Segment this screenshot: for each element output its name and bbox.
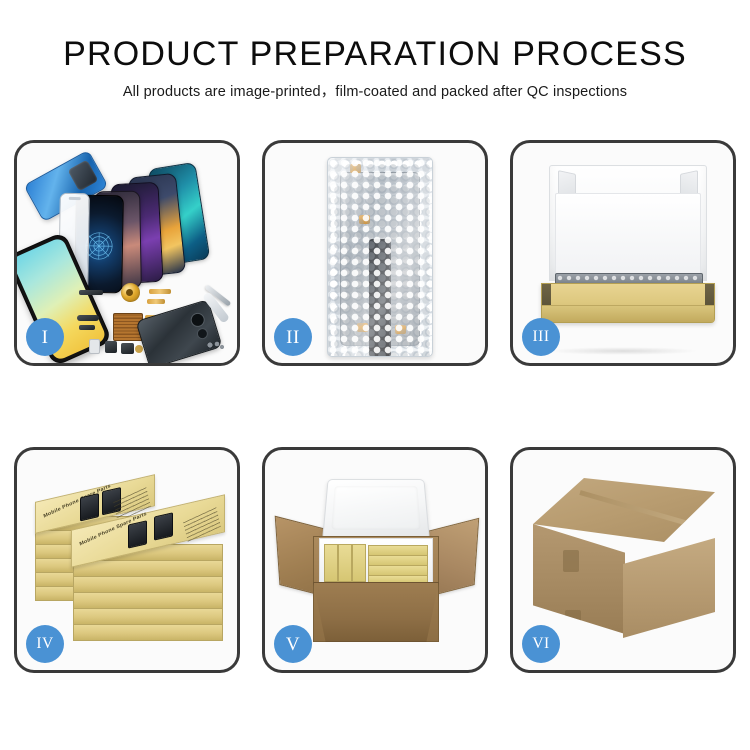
kraft-box-base xyxy=(541,283,715,323)
process-step-2: II xyxy=(262,140,488,366)
page-title: PRODUCT PREPARATION PROCESS xyxy=(0,34,750,74)
step-badge-2: II xyxy=(274,318,312,356)
process-step-grid: I II xyxy=(14,140,736,675)
stacked-boxes-image: Mobile Phone Spare Parts Mobile Phone xyxy=(33,472,229,652)
foam-cooler-lid xyxy=(322,479,430,540)
carton-front-panel xyxy=(313,582,439,642)
sealed-shipping-carton-image xyxy=(533,478,715,640)
product-preparation-process-infographic: PRODUCT PREPARATION PROCESS All products… xyxy=(0,0,750,750)
header: PRODUCT PREPARATION PROCESS All products… xyxy=(0,34,750,101)
camera-module-part xyxy=(105,341,117,353)
step-badge-6: VI xyxy=(522,625,560,663)
sim-tray-part xyxy=(89,339,100,354)
black-connector-part xyxy=(79,290,103,295)
button-part xyxy=(135,345,143,353)
step-badge-5: V xyxy=(274,625,312,663)
process-step-3: III xyxy=(510,140,736,366)
flex-cable-part-a xyxy=(149,289,171,294)
white-foam-sheet xyxy=(555,193,701,277)
foam-liner xyxy=(319,538,433,586)
process-step-1: I xyxy=(14,140,240,366)
carton-top-panel xyxy=(533,478,715,542)
flex-cable-part-b xyxy=(147,299,165,304)
carton-left-panel xyxy=(533,524,625,634)
step-badge-1: I xyxy=(26,318,64,356)
open-kraft-box-image xyxy=(535,163,715,339)
page-subtitle: All products are image-printed，film-coat… xyxy=(0,83,750,101)
bubble-wrapped-screen-image xyxy=(327,157,433,357)
process-step-6: VI xyxy=(510,447,736,673)
screws-image xyxy=(207,341,225,350)
step-badge-4: IV xyxy=(26,625,64,663)
copper-coil-part-image xyxy=(121,283,140,302)
process-step-4: Mobile Phone Spare Parts Mobile Phone xyxy=(14,447,240,673)
carton-with-foam-liner-image xyxy=(279,470,473,652)
small-black-part-b xyxy=(79,325,95,330)
carton-right-panel xyxy=(623,538,715,638)
small-black-part-a xyxy=(77,315,99,321)
step-badge-3: III xyxy=(522,318,560,356)
speaker-part xyxy=(121,343,134,354)
process-step-5: V xyxy=(262,447,488,673)
